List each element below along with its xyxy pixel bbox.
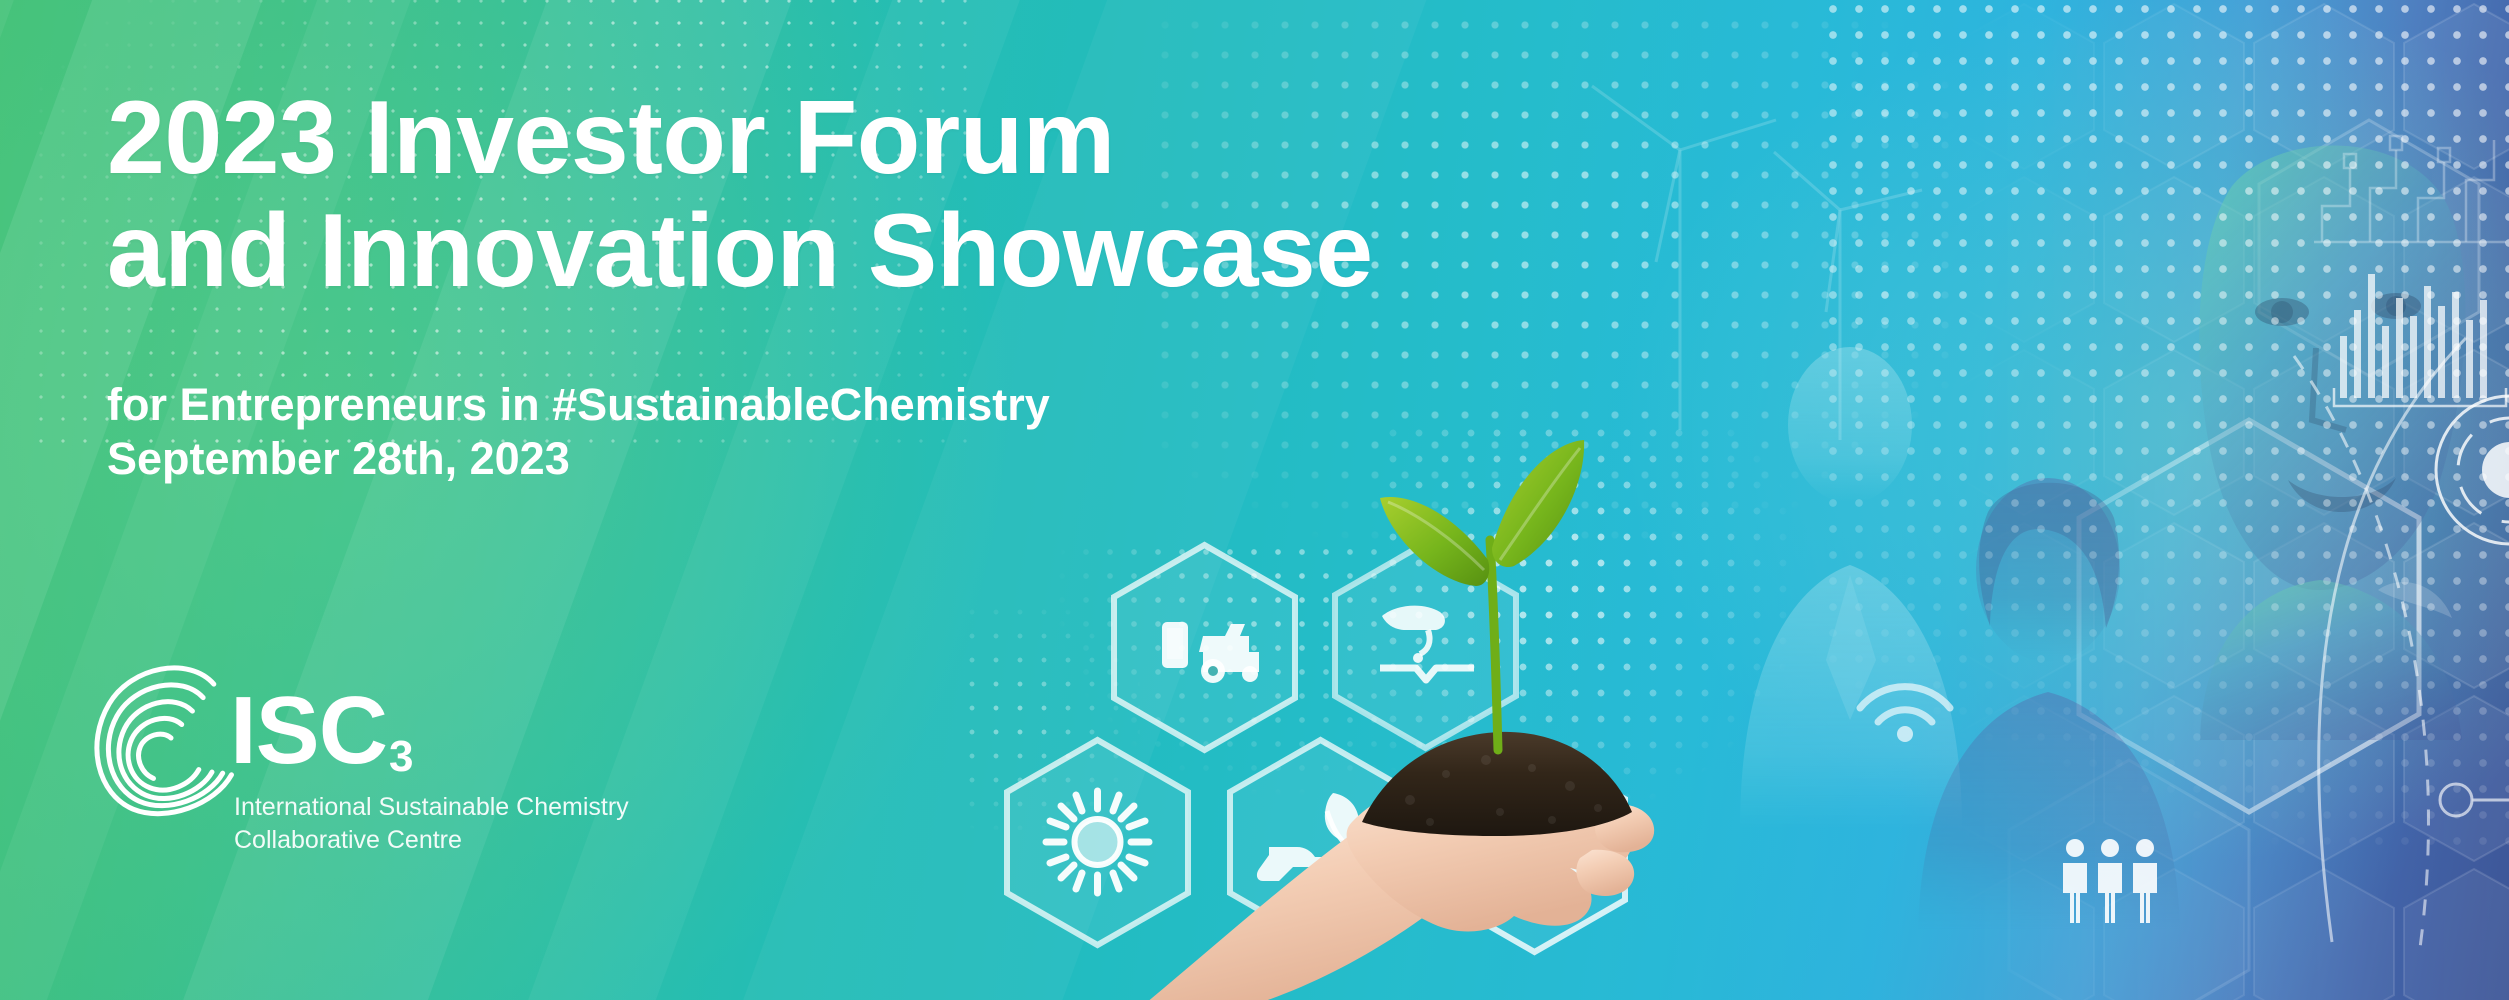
event-banner: 2023 Investor Forum and Innovation Showc…: [0, 0, 2509, 1000]
subtitle-line-1: for Entrepreneurs in #SustainableChemist…: [107, 378, 1050, 432]
title-line-1: 2023 Investor Forum: [107, 82, 1373, 195]
isc3-logo: ISC3 International Sustainable Chemistry…: [78, 655, 598, 885]
title-line-2: and Innovation Showcase: [107, 195, 1373, 308]
isc3-tagline-line-1: International Sustainable Chemistry: [234, 791, 629, 824]
banner-title: 2023 Investor Forum and Innovation Showc…: [107, 82, 1373, 309]
isc3-wordmark-subscript: 3: [389, 732, 412, 781]
isc3-wordmark-text: ISC: [230, 677, 387, 784]
banner-subtitle: for Entrepreneurs in #SustainableChemist…: [107, 378, 1050, 486]
hand-holding-seedling-image: [1140, 430, 1760, 1000]
isc3-tagline: International Sustainable Chemistry Coll…: [234, 791, 629, 857]
subtitle-line-2: September 28th, 2023: [107, 432, 1050, 486]
isc3-tagline-line-2: Collaborative Centre: [234, 824, 629, 857]
solar-sun-icon: [1046, 791, 1149, 893]
isc3-wordmark: ISC3: [230, 683, 411, 779]
